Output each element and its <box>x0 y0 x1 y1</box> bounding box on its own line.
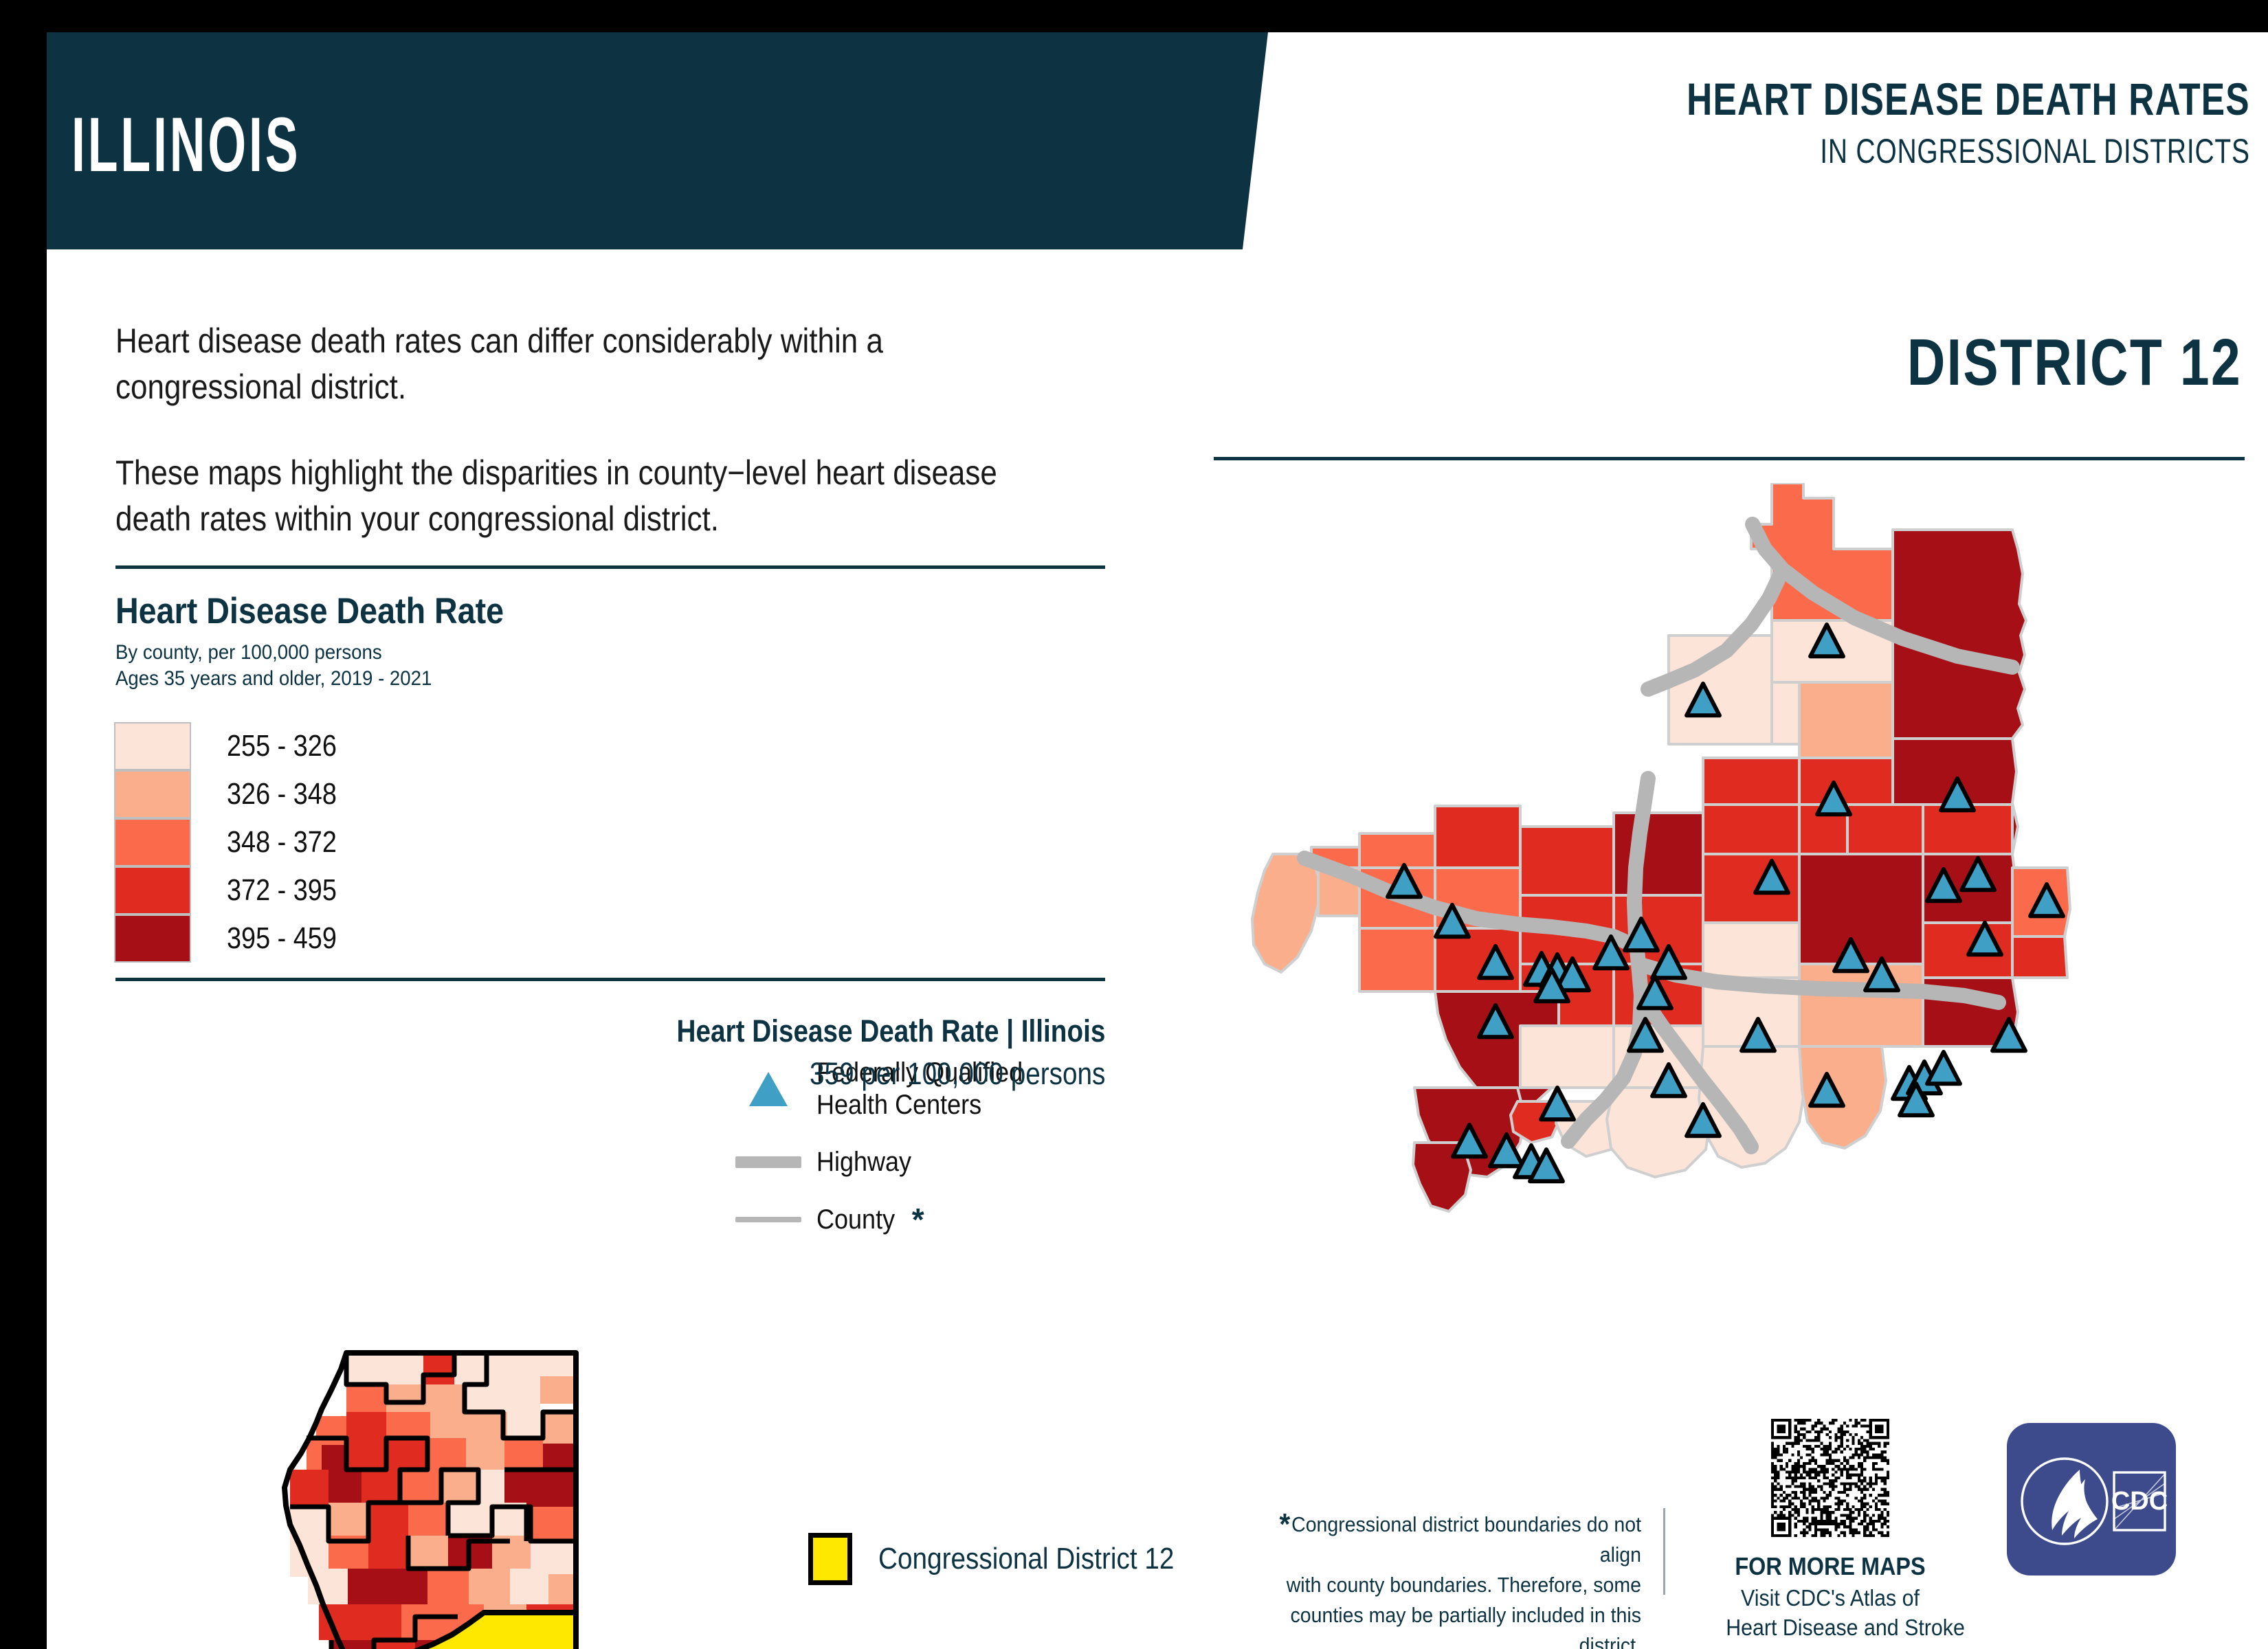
district-key-swatch <box>808 1533 852 1585</box>
legend-item-county: County * <box>727 1204 1046 1236</box>
legend-subtitle-line-1: By county, per 100,000 persons <box>115 640 432 666</box>
footnote-mark: * <box>1280 1507 1291 1541</box>
legend-class-3: 348 - 372 <box>114 818 355 866</box>
highway-label: Highway <box>816 1146 911 1178</box>
legend-subtitle: By county, per 100,000 persons Ages 35 y… <box>115 640 432 693</box>
legend-swatch-4 <box>114 866 191 915</box>
legend-range-label-1: 255 - 326 <box>227 729 337 763</box>
footnote-line-2: with county boundaries. Therefore, some <box>1287 1573 1641 1597</box>
page-subtitle: IN CONGRESSIONAL DISTRICTS <box>1687 129 2250 174</box>
legend-subtitle-line-2: Ages 35 years and older, 2019 - 2021 <box>115 666 432 692</box>
legend-swatch-5 <box>114 915 191 963</box>
legend-class-5: 395 - 459 <box>114 915 355 963</box>
illinois-state-inset-map <box>265 1335 581 1649</box>
state-name: ILLINOIS <box>71 106 300 183</box>
header-titles: HEART DISEASE DEATH RATES IN CONGRESSION… <box>1528 75 2250 174</box>
legend-range-label-5: 395 - 459 <box>227 921 337 956</box>
intro-text: Heart disease death rates can differ con… <box>115 318 1010 542</box>
qr-code[interactable] <box>1771 1419 1889 1537</box>
left-column: Heart disease death rates can differ con… <box>47 249 1174 1649</box>
divider-district <box>1214 457 2245 460</box>
legend-class-1: 255 - 326 <box>114 722 355 770</box>
poster-root: ILLINOIS HEART DISEASE DEATH RATES IN CO… <box>47 32 2268 1649</box>
district-detail-map <box>1229 483 2246 1266</box>
divider-top <box>115 565 1105 569</box>
legend-class-2: 326 - 348 <box>114 770 355 818</box>
legend-item-highway: Highway <box>727 1146 1046 1178</box>
county-line-icon <box>727 1217 810 1222</box>
divider-bottom <box>115 978 1105 981</box>
fqhc-marker <box>1927 1052 1960 1084</box>
cdc-hhs-logo: CDC <box>1999 1420 2184 1578</box>
intro-paragraph-2: These maps highlight the disparities in … <box>115 450 1010 542</box>
legend-range-label-4: 372 - 395 <box>227 873 337 908</box>
legend-title: Heart Disease Death Rate <box>115 590 504 632</box>
legend-swatch-2 <box>114 770 191 818</box>
qr-sub-line-1: Visit CDC's Atlas of <box>1726 1584 1935 1613</box>
color-scale-legend: 255 - 326326 - 348348 - 372372 - 395395 … <box>114 722 355 963</box>
legend-range-label-3: 348 - 372 <box>227 825 337 860</box>
state-stat-value: 359 per 100,000 persons <box>676 1056 1105 1092</box>
intro-paragraph-1: Heart disease death rates can differ con… <box>115 318 1010 410</box>
qr-block: FOR MORE MAPS Visit CDC's Atlas of Heart… <box>1717 1419 1944 1643</box>
footnote-line-3: counties may be partially included in th… <box>1291 1603 1641 1649</box>
county-label: County <box>816 1204 895 1236</box>
district-key: Congressional District 12 <box>808 1533 1214 1585</box>
county-footnote-mark: * <box>912 1212 924 1228</box>
legend-class-4: 372 - 395 <box>114 866 355 915</box>
district-key-label: Congressional District 12 <box>878 1542 1174 1576</box>
district-county-fills <box>1252 483 2070 1211</box>
cdc-logo-text: CDC <box>2111 1487 2168 1516</box>
highway-line-icon <box>727 1156 810 1168</box>
district-title: DISTRICT 12 <box>1907 325 2242 401</box>
page-header: ILLINOIS HEART DISEASE DEATH RATES IN CO… <box>47 32 2268 249</box>
qr-sub-line-2: Heart Disease and Stroke <box>1726 1613 1935 1643</box>
footer-divider <box>1663 1508 1665 1595</box>
qr-title: FOR MORE MAPS <box>1728 1552 1933 1581</box>
state-stat-title: Heart Disease Death Rate | Illinois <box>676 1013 1105 1049</box>
fqhc-label-line-2: Health Centers <box>816 1089 1023 1121</box>
page-title: HEART DISEASE DEATH RATES <box>1687 75 2250 124</box>
legend-swatch-1 <box>114 722 191 770</box>
footnote-line-1: Congressional district boundaries do not… <box>1291 1512 1641 1567</box>
legend-swatch-3 <box>114 818 191 866</box>
footnote: *Congressional district boundaries do no… <box>1249 1510 1641 1649</box>
qr-subtitle: Visit CDC's Atlas of Heart Disease and S… <box>1726 1584 1935 1643</box>
state-statistic: Heart Disease Death Rate | Illinois 359 … <box>607 1013 1105 1092</box>
legend-range-label-2: 326 - 348 <box>227 777 337 811</box>
